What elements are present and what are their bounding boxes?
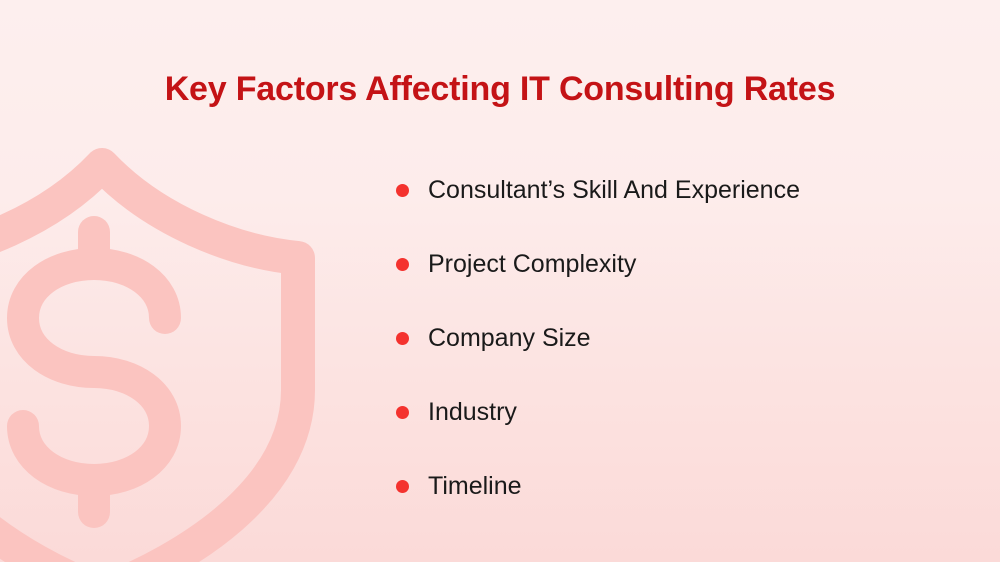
list-item: Timeline	[396, 466, 956, 506]
bullet-dot-icon	[396, 184, 409, 197]
bullet-dot-icon	[396, 480, 409, 493]
list-item: Industry	[396, 392, 956, 432]
list-item: Consultant’s Skill And Experience	[396, 170, 956, 210]
factor-label: Timeline	[428, 474, 522, 499]
bullet-dot-icon	[396, 406, 409, 419]
bullet-dot-icon	[396, 258, 409, 271]
list-item: Company Size	[396, 318, 956, 358]
slide-canvas: Key Factors Affecting IT Consulting Rate…	[0, 0, 1000, 562]
factor-list: Consultant’s Skill And Experience Projec…	[396, 170, 956, 506]
factor-label: Consultant’s Skill And Experience	[428, 178, 800, 203]
factor-label: Project Complexity	[428, 252, 636, 277]
list-item: Project Complexity	[396, 244, 956, 284]
factor-label: Company Size	[428, 326, 591, 351]
bullet-dot-icon	[396, 332, 409, 345]
factor-label: Industry	[428, 400, 517, 425]
shield-dollar-icon	[0, 140, 340, 562]
slide-title: Key Factors Affecting IT Consulting Rate…	[0, 70, 1000, 109]
